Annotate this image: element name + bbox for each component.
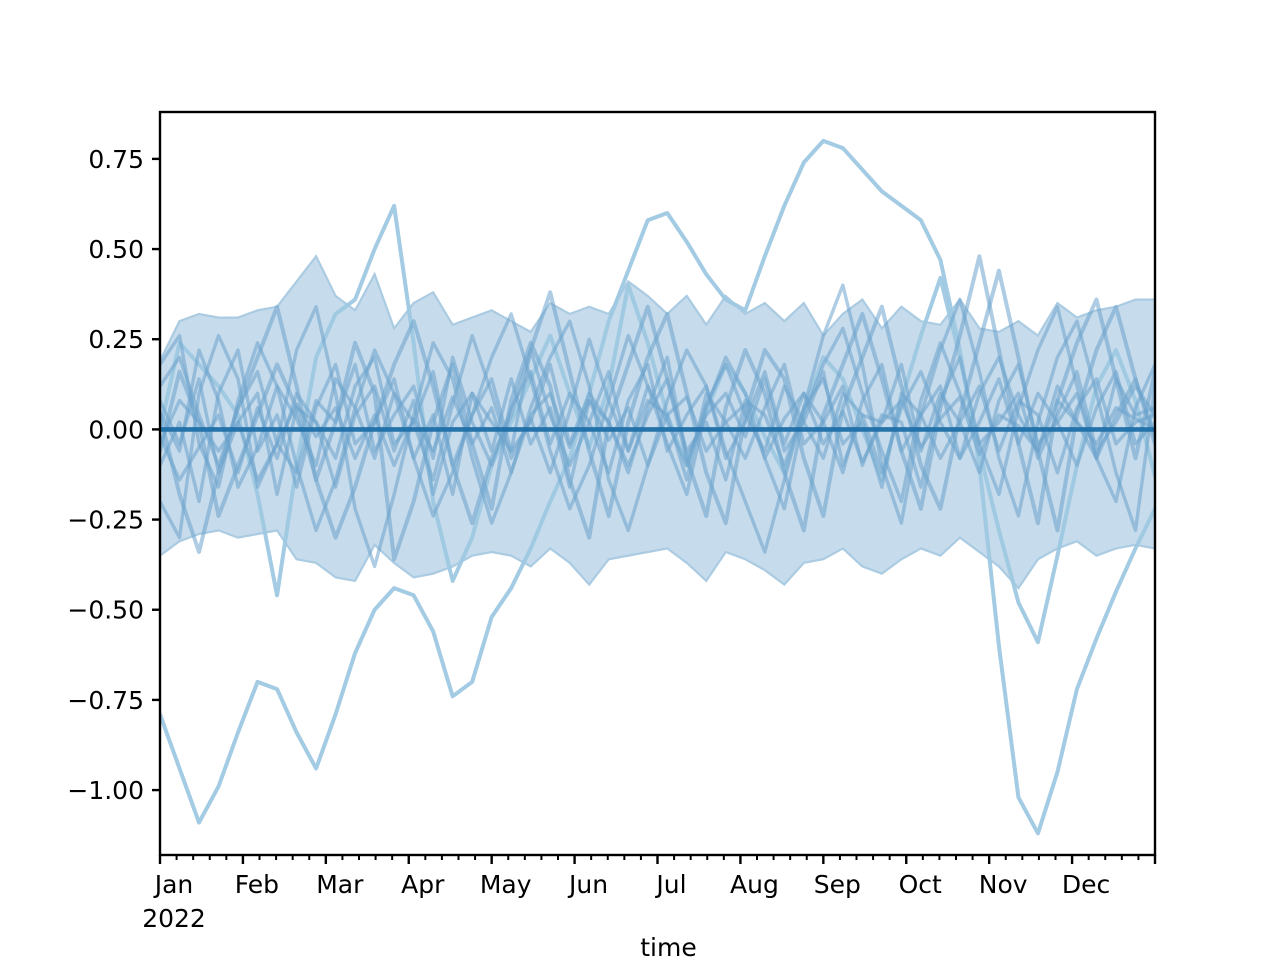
- x-tick-label: Jan: [153, 870, 194, 899]
- x-axis-label: time: [640, 933, 696, 960]
- x-tick-label: Nov: [979, 870, 1028, 899]
- y-tick-label: −0.50: [67, 596, 144, 625]
- x-tick-label: Apr: [401, 870, 445, 899]
- x-tick-label: Jun: [567, 870, 608, 899]
- x-tick-label: Sep: [814, 870, 861, 899]
- y-tick-label: 0.75: [88, 145, 144, 174]
- y-tick-label: −1.00: [67, 776, 144, 805]
- x-tick-year-label: 2022: [142, 904, 206, 933]
- line-chart: 0.750.500.250.00−0.25−0.50−0.75−1.00Jan2…: [0, 0, 1280, 960]
- figure-canvas: 0.750.500.250.00−0.25−0.50−0.75−1.00Jan2…: [0, 0, 1280, 960]
- x-tick-label: Jul: [654, 870, 686, 899]
- x-tick-label: Mar: [316, 870, 364, 899]
- x-tick-label: Feb: [235, 870, 279, 899]
- y-tick-label: 0.50: [88, 235, 144, 264]
- y-tick-label: −0.75: [67, 686, 144, 715]
- x-tick-label: May: [480, 870, 532, 899]
- x-tick-label: Dec: [1062, 870, 1110, 899]
- y-tick-label: 0.00: [88, 415, 144, 444]
- y-tick-label: −0.25: [67, 506, 144, 535]
- x-tick-label: Aug: [730, 870, 779, 899]
- chart-render-group: 0.750.500.250.00−0.25−0.50−0.75−1.00Jan2…: [67, 112, 1155, 960]
- y-tick-label: 0.25: [88, 325, 144, 354]
- x-tick-label: Oct: [899, 870, 942, 899]
